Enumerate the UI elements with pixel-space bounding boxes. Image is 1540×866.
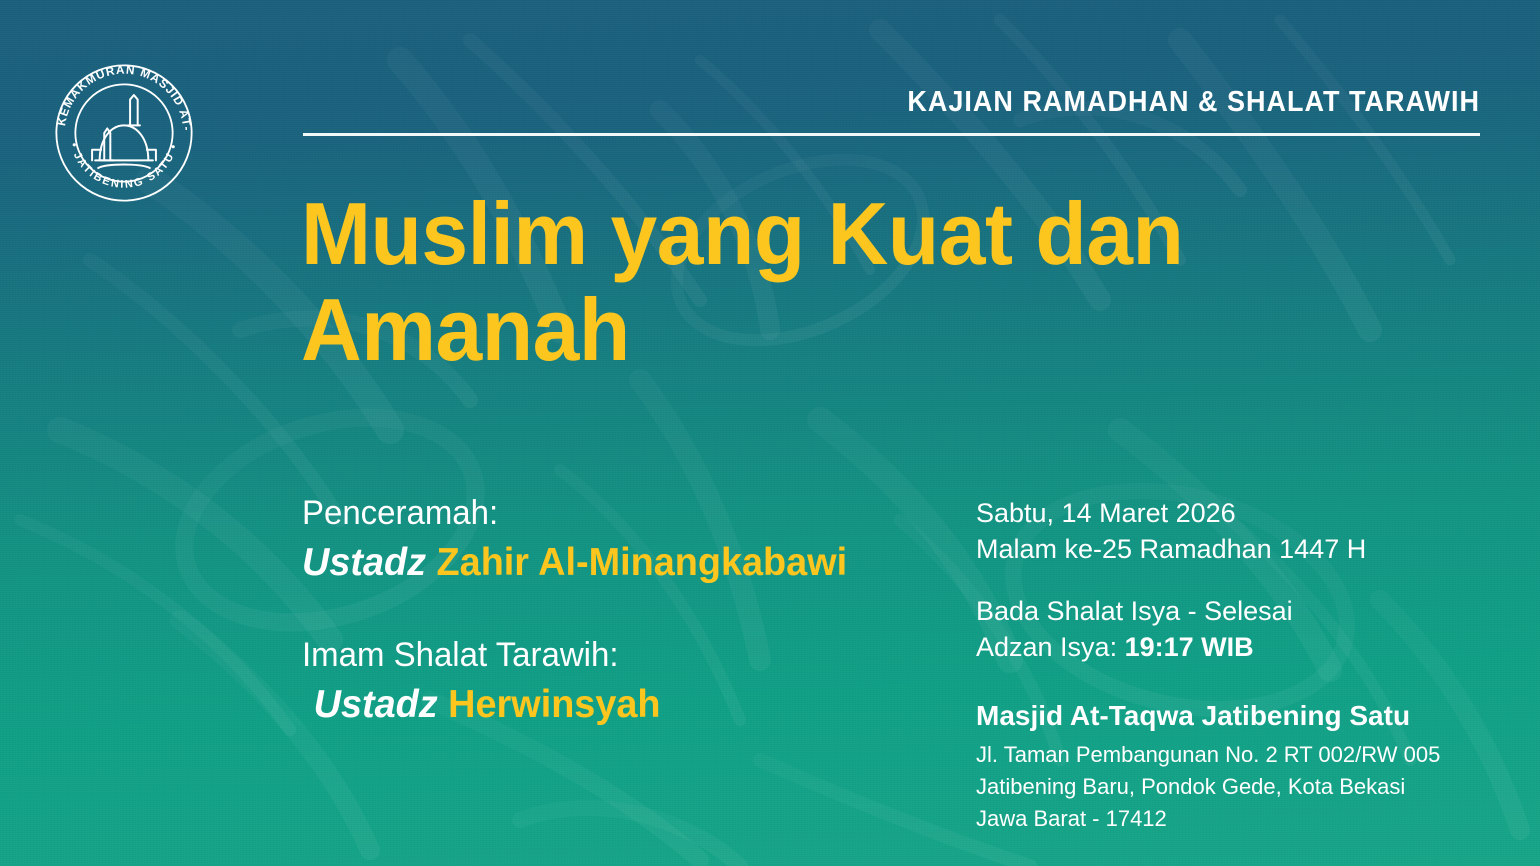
venue-group: Masjid At-Taqwa Jatibening Satu Jl. Tama…: [976, 696, 1496, 836]
venue-address-line-1: Jl. Taman Pembangunan No. 2 RT 002/RW 00…: [976, 739, 1496, 771]
imam-name: Herwinsyah: [448, 683, 660, 726]
header-title: KAJIAN RAMADHAN & SHALAT TARAWIH: [383, 88, 1480, 117]
svg-text:• JATIBENING SATU •: • JATIBENING SATU •: [67, 142, 180, 191]
date-group: Sabtu, 14 Maret 2026 Malam ke-25 Ramadha…: [976, 496, 1496, 568]
imam-name-row: Ustadz Herwinsyah: [302, 680, 903, 731]
penceramah-name-row: Ustadz Zahir Al-Minangkabawi: [302, 538, 903, 589]
imam-label: Imam Shalat Tarawih:: [302, 634, 903, 678]
event-poster: DEWAN KEMAKMURAN MASJID AT-TAQWA • JATIB…: [0, 0, 1540, 866]
adzan-time: 19:17 WIB: [1125, 632, 1254, 662]
time-text: Bada Shalat Isya - Selesai: [976, 594, 1496, 630]
adzan-label: Adzan Isya:: [976, 632, 1117, 662]
venue-name: Masjid At-Taqwa Jatibening Satu: [976, 696, 1496, 735]
header-divider: [303, 133, 1480, 136]
page-title-line-1: Muslim yang Kuat dan: [301, 186, 1256, 282]
poster-header: KAJIAN RAMADHAN & SHALAT TARAWIH: [300, 88, 1480, 117]
speaker-block-imam: Imam Shalat Tarawih: Ustadz Herwinsyah: [302, 634, 903, 730]
imam-honorific: Ustadz: [314, 683, 438, 726]
page-title: Muslim yang Kuat dan Amanah: [301, 186, 1256, 378]
speaker-block-penceramah: Penceramah: Ustadz Zahir Al-Minangkabawi: [302, 492, 903, 588]
venue-address-line-3: Jawa Barat - 17412: [976, 803, 1496, 835]
penceramah-name: Zahir Al-Minangkabawi: [437, 541, 848, 584]
event-details-section: Sabtu, 14 Maret 2026 Malam ke-25 Ramadha…: [976, 496, 1496, 836]
adzan-row: Adzan Isya: 19:17 WIB: [976, 630, 1496, 666]
logo-outer-text-bottom: • JATIBENING SATU •: [67, 142, 180, 191]
dkm-at-taqwa-logo: DEWAN KEMAKMURAN MASJID AT-TAQWA • JATIB…: [48, 57, 200, 209]
penceramah-honorific: Ustadz: [302, 541, 426, 584]
date-gregorian: Sabtu, 14 Maret 2026: [976, 496, 1496, 532]
speakers-section: Penceramah: Ustadz Zahir Al-Minangkabawi…: [302, 492, 903, 730]
penceramah-label: Penceramah:: [302, 492, 903, 536]
date-hijri: Malam ke-25 Ramadhan 1447 H: [976, 532, 1496, 568]
venue-address-line-2: Jatibening Baru, Pondok Gede, Kota Bekas…: [976, 771, 1496, 803]
time-group: Bada Shalat Isya - Selesai Adzan Isya: 1…: [976, 594, 1496, 666]
page-title-line-2: Amanah: [301, 282, 1256, 378]
